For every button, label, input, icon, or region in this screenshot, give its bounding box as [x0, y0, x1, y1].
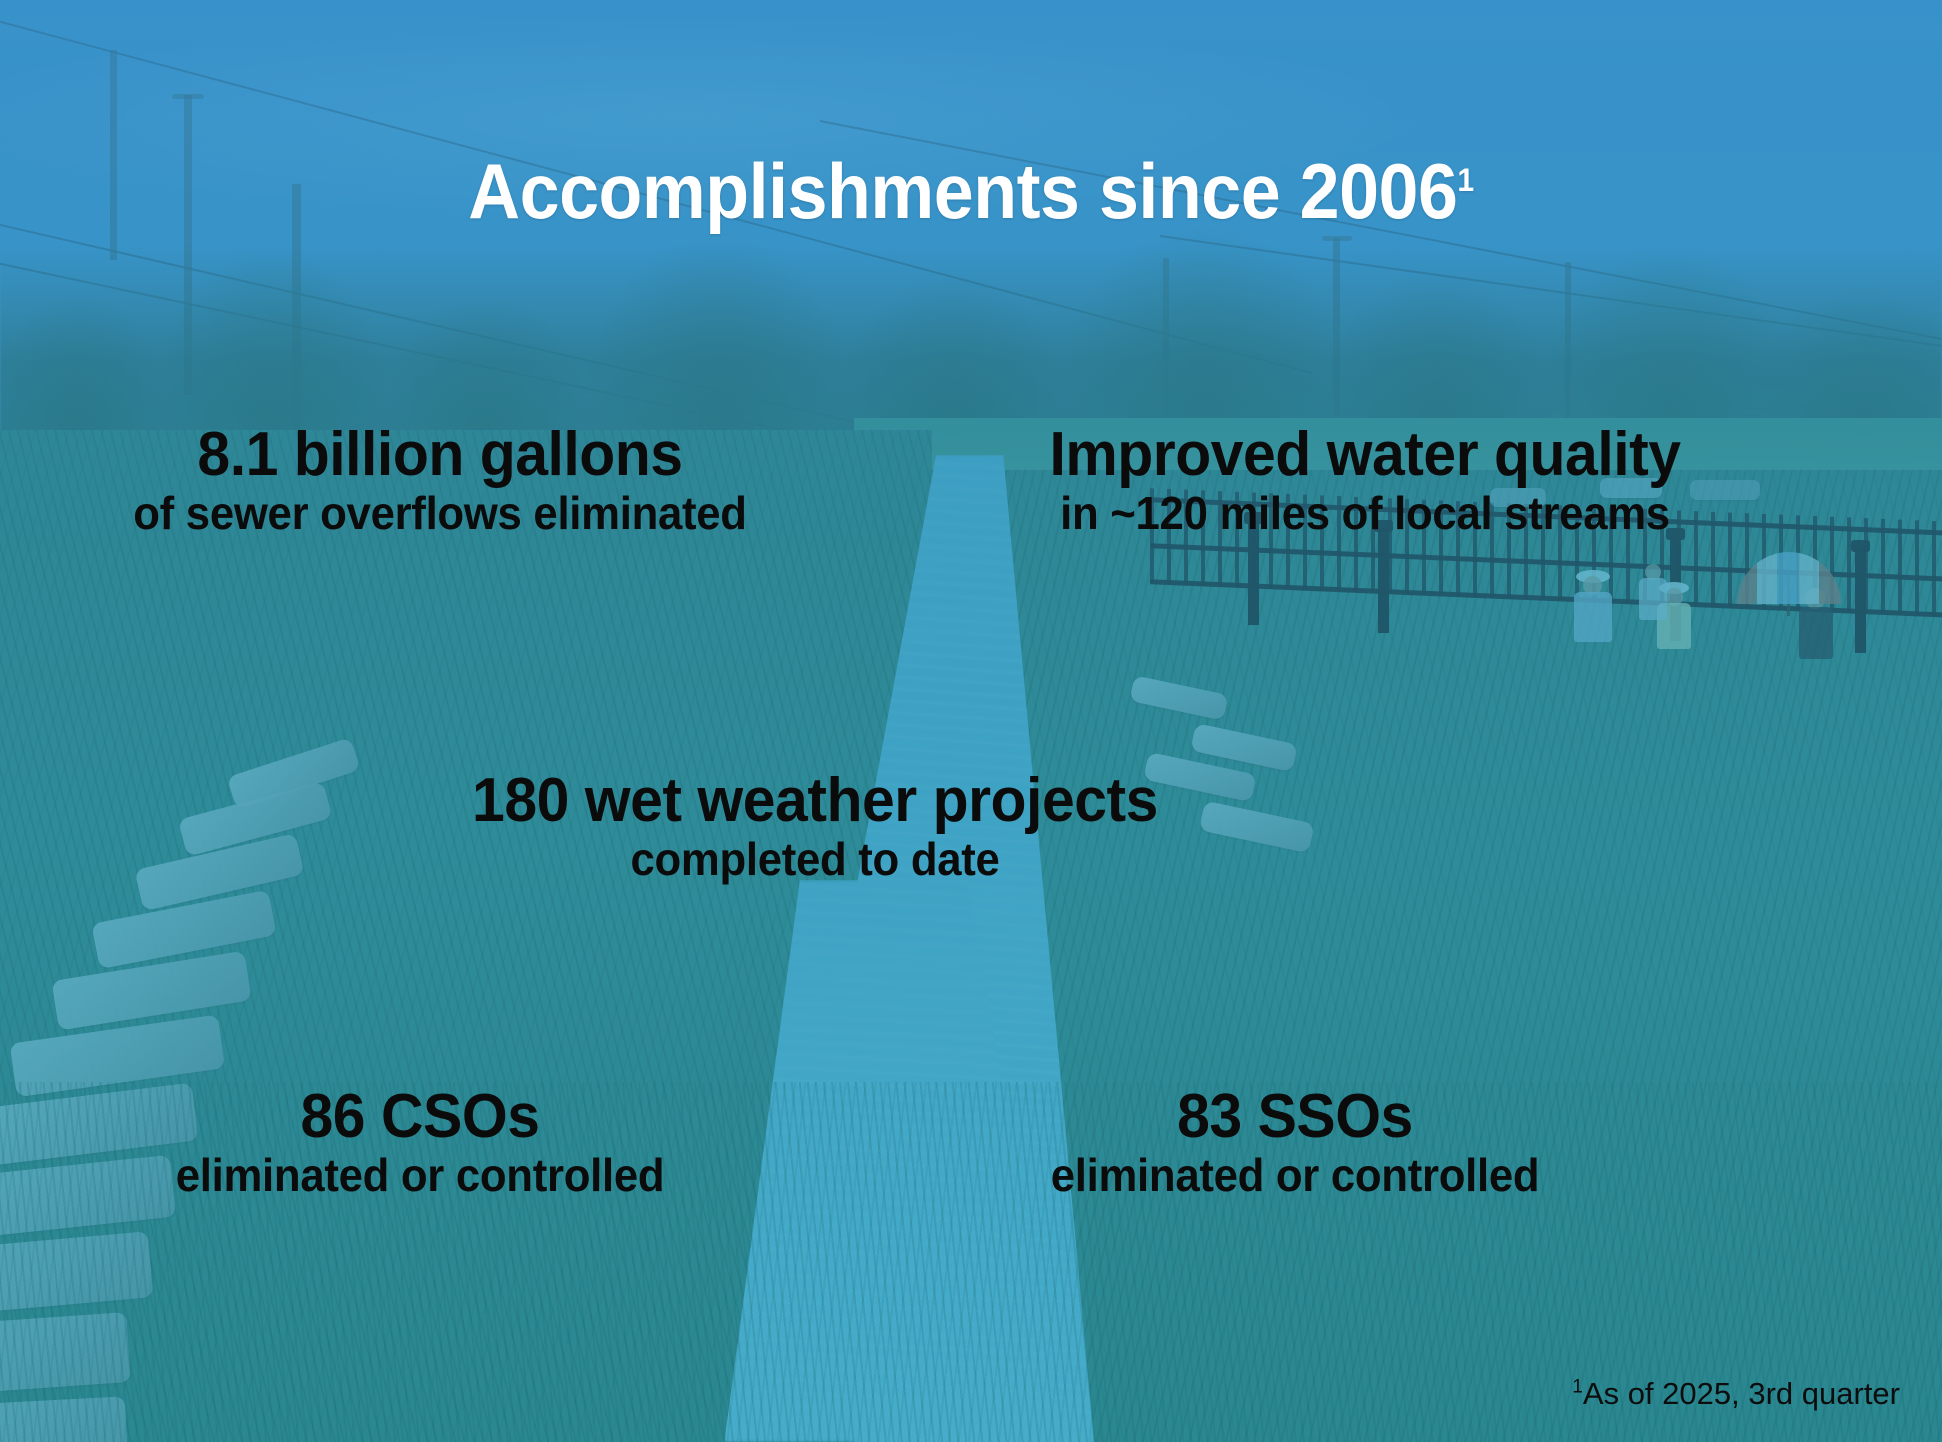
slide-content: Accomplishments since 20061 8.1 billion …: [0, 0, 1942, 1442]
stat-sso-caption: eliminated or controlled: [920, 1150, 1671, 1202]
stat-projects-caption: completed to date: [440, 834, 1191, 886]
stat-projects-headline: 180 wet weather projects: [440, 768, 1191, 834]
stat-gallons-headline: 8.1 billion gallons: [60, 422, 820, 488]
footnote-marker: 1: [1572, 1377, 1583, 1398]
stat-water-quality: Improved water quality in ~120 miles of …: [820, 422, 1910, 539]
slide-canvas: Accomplishments since 20061 8.1 billion …: [0, 0, 1942, 1442]
stat-cso: 86 CSOs eliminated or controlled: [60, 1084, 780, 1201]
stat-water-quality-headline: Improved water quality: [847, 422, 1883, 488]
page-title-text: Accomplishments since 2006: [468, 147, 1457, 235]
stat-water-quality-caption: in ~120 miles of local streams: [847, 488, 1883, 540]
page-title: Accomplishments since 20061: [78, 152, 1865, 230]
stat-projects: 180 wet weather projects completed to da…: [420, 768, 1210, 885]
stat-sso: 83 SSOs eliminated or controlled: [900, 1084, 1690, 1201]
title-footnote-marker: 1: [1457, 161, 1473, 198]
footnote: 1As of 2025, 3rd quarter: [1572, 1376, 1900, 1412]
footnote-text: As of 2025, 3rd quarter: [1583, 1376, 1900, 1411]
stat-cso-headline: 86 CSOs: [78, 1084, 762, 1150]
stat-gallons-caption: of sewer overflows eliminated: [60, 488, 820, 540]
stat-sso-headline: 83 SSOs: [920, 1084, 1671, 1150]
stat-cso-caption: eliminated or controlled: [78, 1150, 762, 1202]
stat-gallons: 8.1 billion gallons of sewer overflows e…: [40, 422, 840, 539]
